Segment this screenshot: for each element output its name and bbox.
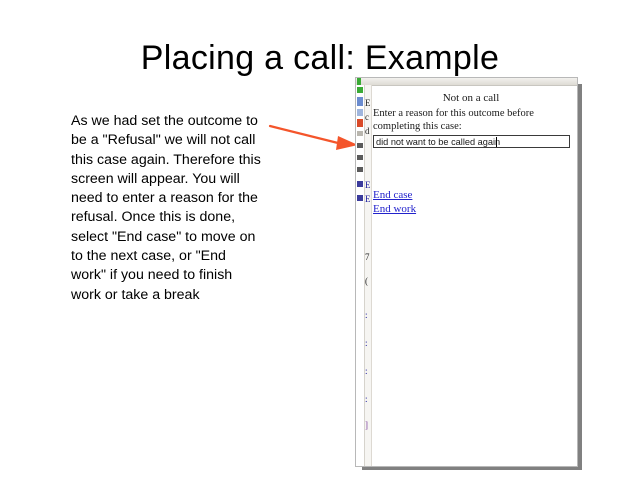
- content-fragment: d: [365, 127, 370, 136]
- content-fragment: 7: [365, 253, 370, 262]
- sidebar-fragment: [357, 109, 363, 116]
- page-title: Placing a call: Example: [0, 38, 640, 78]
- slide-body-text: As we had set the outcome to be a "Refus…: [71, 112, 263, 305]
- sidebar-fragment: [357, 97, 363, 106]
- screenshot-action-links: End case End work: [373, 189, 493, 216]
- sidebar-fragment: [357, 155, 363, 160]
- sidebar-fragment: [357, 119, 363, 127]
- end-case-link[interactable]: End case: [373, 189, 493, 203]
- embedded-screenshot-panel: EcdEE7(::::] Not on a call Enter a reaso…: [355, 77, 578, 467]
- reason-input[interactable]: did not want to be called again: [373, 135, 570, 148]
- content-fragment: :: [365, 311, 368, 320]
- end-work-link[interactable]: End work: [373, 203, 493, 217]
- sidebar-fragment: [357, 143, 363, 148]
- screenshot-toolbar-strip: [356, 78, 577, 86]
- content-fragment: :: [365, 395, 368, 404]
- content-fragment: E: [365, 181, 371, 190]
- toolbar-green-marker-icon: [357, 78, 361, 85]
- pointer-arrow-icon: [262, 116, 362, 158]
- screenshot-heading: Not on a call: [372, 92, 570, 104]
- content-fragment: (: [365, 277, 368, 286]
- slide-canvas: Placing a call: Example As we had set th…: [0, 0, 640, 480]
- content-fragment: c: [365, 113, 369, 122]
- sidebar-fragment: [357, 87, 363, 93]
- sidebar-fragment: [357, 131, 363, 136]
- screenshot-content-area: Not on a call Enter a reason for this ou…: [372, 86, 577, 466]
- content-fragment: :: [365, 367, 368, 376]
- content-fragment: :: [365, 339, 368, 348]
- screenshot-instruction-text: Enter a reason for this outcome before c…: [373, 108, 575, 133]
- reason-input-value: did not want to be called again: [376, 137, 500, 148]
- text-caret: [496, 137, 497, 147]
- content-fragment: E: [365, 99, 371, 108]
- cutoff-content-gutter: EcdEE7(::::]: [365, 85, 372, 466]
- content-fragment: ]: [365, 421, 368, 430]
- content-fragment: E: [365, 195, 371, 204]
- sidebar-fragment: [357, 181, 363, 187]
- sidebar-fragment: [357, 195, 363, 201]
- sidebar-fragment: [357, 167, 363, 172]
- cutoff-sidebar-strip: [356, 85, 365, 466]
